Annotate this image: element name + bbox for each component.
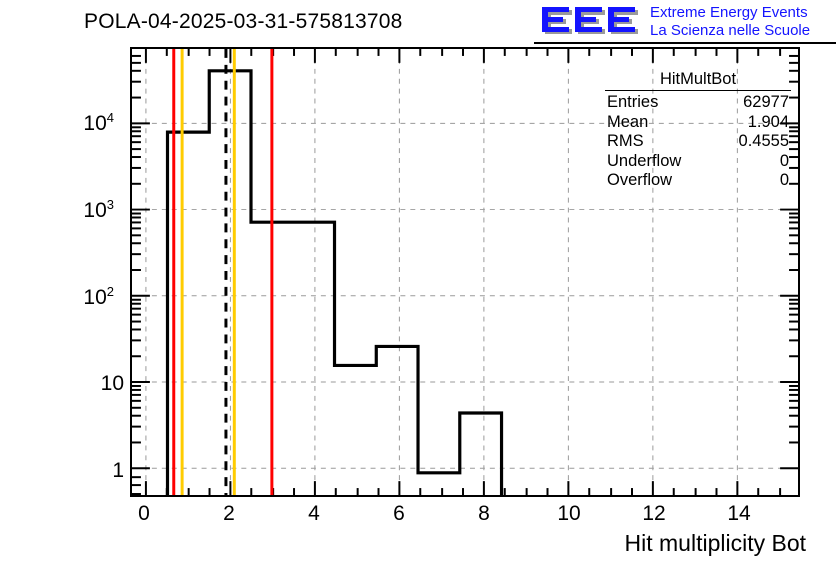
x-tick-0: 0 [124,502,164,526]
stats-value: 0 [780,152,789,172]
stats-label: Entries [607,93,658,113]
histogram-outline [167,71,501,495]
stats-value: 62977 [743,93,789,113]
y-tick-10: 10 [62,372,124,396]
x-tick-14: 14 [719,502,759,526]
x-tick-10: 10 [549,502,589,526]
page-title: POLA-04-2025-03-31-575813708 [84,10,403,34]
stats-row-entries: Entries62977 [601,93,795,113]
x-tick-4: 4 [294,502,334,526]
cut-marker-lines [174,49,272,495]
stats-label: Mean [607,113,648,133]
stats-value: 0.4555 [739,132,789,152]
stats-rows: Entries62977Mean1.904RMS0.4555Underflow0… [601,93,795,191]
y-axis-ticks [132,56,150,494]
stats-label: Underflow [607,152,681,172]
eee-logo-line1: Extreme Energy Events [650,4,810,22]
stats-row-rms: RMS0.4555 [601,132,795,152]
eee-logo-line2: La Scienza nelle Scuole [650,22,810,40]
stats-box: HitMultBot Entries62977Mean1.904RMS0.455… [601,70,795,191]
x-axis-ticks-top [146,49,780,63]
stats-row-underflow: Underflow0 [601,152,795,172]
x-tick-2: 2 [209,502,249,526]
x-axis-title: Hit multiplicity Bot [625,530,806,557]
x-tick-6: 6 [379,502,419,526]
header-divider [534,42,836,44]
stats-row-overflow: Overflow0 [601,171,795,191]
eee-logo-text: Extreme Energy Events La Scienza nelle S… [650,4,810,39]
stats-label: RMS [607,132,644,152]
eee-logo-mark [540,5,644,39]
x-tick-8: 8 [464,502,504,526]
eee-logo: Extreme Energy Events La Scienza nelle S… [540,2,836,42]
y-tick-1: 1 [62,459,124,483]
stats-value: 1.904 [748,113,789,133]
x-tick-12: 12 [634,502,674,526]
stats-label: Overflow [607,171,672,191]
stats-row-mean: Mean1.904 [601,113,795,133]
stats-divider [605,90,791,91]
stats-value: 0 [780,171,789,191]
y-tick-1e3: 103 [52,197,114,223]
y-tick-1e4: 104 [52,110,114,136]
stats-title: HitMultBot [601,70,795,90]
y-tick-1e2: 102 [52,284,114,310]
x-axis-ticks [146,481,780,495]
